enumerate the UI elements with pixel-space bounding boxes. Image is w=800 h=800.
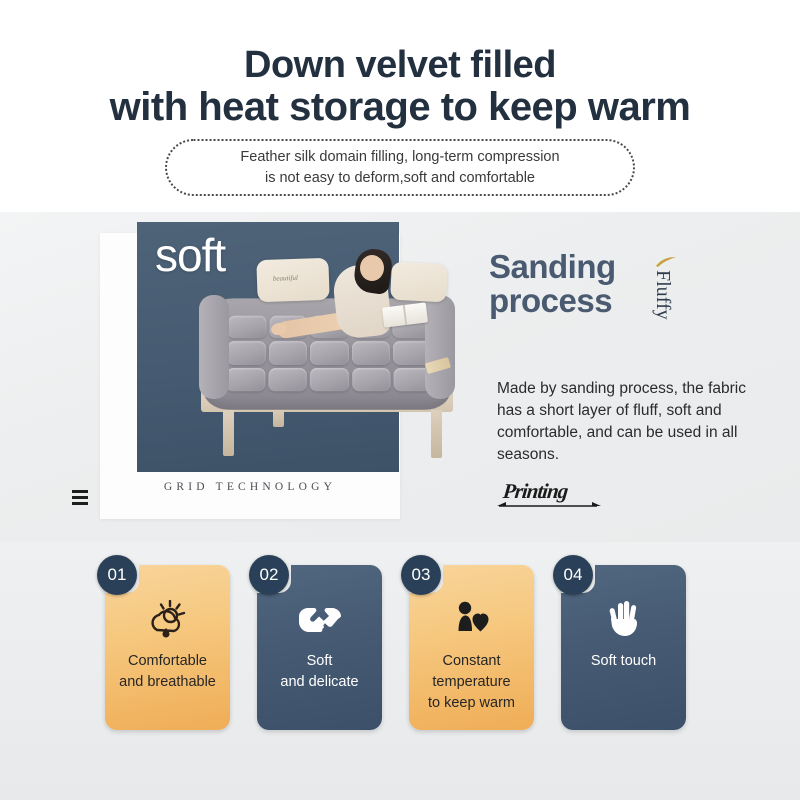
- card-label-line1: Constant: [442, 653, 500, 669]
- card-label: Soft and delicate: [261, 651, 378, 693]
- swoosh-icon: [655, 256, 677, 268]
- feature-description: Made by sanding process, the fabric has …: [497, 378, 747, 466]
- subtitle-callout: Feather silk domain filling, long-term c…: [165, 139, 635, 196]
- tuft-cell: [227, 341, 266, 364]
- tuft-cell: [226, 368, 266, 392]
- card-label-line2: and breathable: [119, 674, 216, 690]
- feature-card-01[interactable]: 01 Comfortable and breathable: [105, 565, 230, 730]
- card-number-badge: 01: [97, 555, 137, 595]
- signature-flourish-icon: [497, 481, 607, 511]
- mattress-photo: beautiful: [195, 243, 460, 485]
- tuft-cell: [268, 341, 307, 364]
- mattress-side-bolster: [199, 295, 229, 399]
- fluffy-badge: Fluffy: [649, 256, 683, 346]
- feature-card-02[interactable]: 02 Soft and delicate: [257, 565, 382, 730]
- pillow: beautiful: [256, 258, 329, 302]
- fluffy-label: Fluffy: [651, 270, 674, 320]
- page-title-line1: Down velvet filled: [0, 44, 800, 86]
- card-label-line1: Soft touch: [591, 653, 656, 669]
- card-label-line1: Comfortable: [128, 653, 207, 669]
- hamburger-bar: [72, 502, 88, 505]
- tuft-cell: [352, 368, 391, 392]
- card-label-line2: temperature: [432, 674, 510, 690]
- card-label-line3: to keep warm: [428, 695, 515, 711]
- feature-card-list: 01 Comfortable and breathable 02: [105, 565, 695, 730]
- subtitle-text: Feather silk domain filling, long-term c…: [240, 147, 559, 189]
- feature-heading-block: Sanding process: [489, 250, 779, 318]
- bed-leg: [431, 410, 442, 458]
- feature-heading-line1: Sanding: [489, 250, 779, 284]
- feature-card-03[interactable]: 03 Constant temperature to keep warm: [409, 565, 534, 730]
- card-number-badge: 02: [249, 555, 289, 595]
- page-title: Down velvet filled with heat storage to …: [0, 44, 800, 128]
- open-hand-icon: [561, 595, 686, 643]
- bed-leg: [223, 410, 234, 456]
- subtitle-line1: Feather silk domain filling, long-term c…: [240, 149, 559, 165]
- hero-section: Down velvet filled with heat storage to …: [0, 0, 800, 212]
- hamburger-icon[interactable]: [72, 490, 88, 505]
- sun-cloud-rain-icon: [105, 595, 230, 643]
- feature-card-04[interactable]: 04 Soft touch: [561, 565, 686, 730]
- card-label-line1: Soft: [307, 653, 333, 669]
- tuft-cell: [352, 341, 391, 364]
- tuft-cell: [268, 368, 307, 392]
- feature-heading-line2: process: [489, 284, 779, 318]
- hamburger-bar: [72, 490, 88, 493]
- card-label: Constant temperature to keep warm: [413, 651, 530, 714]
- handshake-icon: [257, 595, 382, 643]
- feature-heading: Sanding process: [489, 250, 779, 318]
- card-number-badge: 03: [401, 555, 441, 595]
- tuft-cell: [228, 316, 267, 339]
- subtitle-line2: is not easy to deform,soft and comfortab…: [265, 170, 535, 186]
- tuft-cell: [310, 368, 349, 392]
- card-label: Comfortable and breathable: [109, 651, 226, 693]
- product-caption: GRID TECHNOLOGY: [100, 481, 400, 493]
- printing-signature: Printing: [497, 481, 607, 511]
- model-head: [360, 255, 384, 281]
- tuft-cell: [310, 341, 349, 364]
- pillow: [390, 262, 448, 303]
- hamburger-bar: [72, 496, 88, 499]
- card-number-badge: 04: [553, 555, 593, 595]
- pillow-embroidery-text: beautiful: [273, 274, 298, 283]
- page-title-line2: with heat storage to keep warm: [0, 86, 800, 128]
- card-label: Soft touch: [565, 651, 682, 672]
- card-label-line2: and delicate: [280, 674, 358, 690]
- mattress-side-bolster: [425, 295, 455, 399]
- person-heart-icon: [409, 595, 534, 643]
